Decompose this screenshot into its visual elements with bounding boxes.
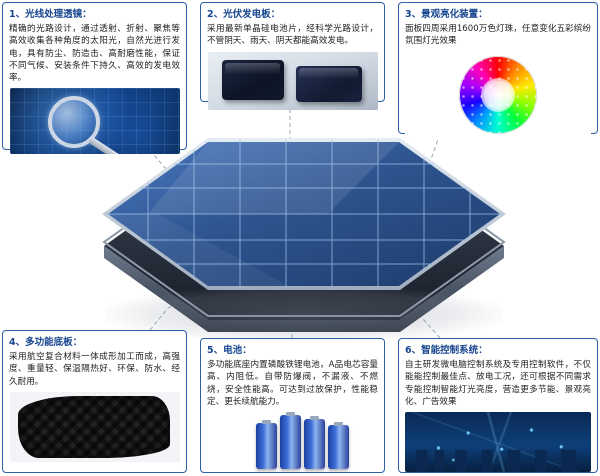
callout-3-body: 面板四周采用1600万色灯珠，任意变化五彩缤纷氛围灯光效果 [405,23,591,48]
callout-card-3[interactable]: 3、景观亮化装置： 面板四周采用1600万色灯珠，任意变化五彩缤纷氛围灯光效果 [398,2,598,134]
smart-city-image [405,412,591,472]
solar-cell-image [208,52,378,110]
diagram-canvas: 1、光线处理透镜： 精确的光路设计，通过透射、折射、聚焦等高效收集各种角度的太阳… [0,0,600,476]
carbon-fiber-weave [18,396,170,458]
callout-card-6[interactable]: 6、智能控制系统： 自主研发微电脑控制系统及专用控制软件，不仅能能控制最佳点、放… [398,338,598,473]
callout-5-body: 多功能底座内置磷酸铁锂电池，A品电芯容量高、内阻低。自带防爆阀，不漏液、不燃烧，… [207,359,378,408]
battery-cell-4 [328,425,349,469]
callout-1-body: 精确的光路设计，通过透射、折射、聚焦等高效收集各种角度的太阳光，自然光进行发电，… [9,23,180,84]
callout-2-body: 采用最新单晶硅电池片，经科学光路设计，不管阴天、雨天、阴天都能高效发电。 [207,23,378,48]
battery-cells-image [208,412,378,472]
carbon-fiber-image [10,392,180,462]
callout-1-title: 1、光线处理透镜： [9,8,180,21]
callout-3-title: 3、景观亮化装置： [405,8,591,21]
callout-card-1[interactable]: 1、光线处理透镜： 精确的光路设计，通过透射、折射、聚焦等高效收集各种角度的太阳… [2,2,187,150]
callout-6-title: 6、智能控制系统： [405,344,591,357]
battery-cell-1 [256,423,277,469]
magnifier-lens-image [10,88,180,154]
color-wheel-dots [459,56,537,134]
callout-2-title: 2、光伏发电板： [207,8,378,21]
solar-cell-a [222,60,284,100]
callout-4-body: 采用航空复合材料一体成形加工而成，高强度、重量轻、保温隔热好、环保、防水、经久耐… [9,351,180,388]
callout-6-body: 自主研发微电脑控制系统及专用控制软件，不仅能能控制最佳点、放电工况，还可根据不同… [405,359,591,408]
solar-cell-b [296,66,362,102]
battery-cell-2 [280,415,301,469]
color-wheel-image [405,52,591,138]
callout-5-title: 5、电池： [207,344,378,357]
callout-card-2[interactable]: 2、光伏发电板： 采用最新单晶硅电池片，经科学光路设计，不管阴天、雨天、阴天都能… [200,2,385,102]
battery-cell-3 [304,419,325,469]
callout-4-title: 4、多功能底板： [9,336,180,349]
color-wheel-graphic [459,56,537,134]
callout-card-5[interactable]: 5、电池： 多功能底座内置磷酸铁锂电池，A品电芯容量高、内阻低。自带防爆阀，不漏… [200,338,385,473]
callout-card-4[interactable]: 4、多功能底板： 采用航空复合材料一体成形加工而成，高强度、重量轻、保温隔热好、… [2,330,187,473]
solar-panel-illustration [88,128,520,338]
city-skyline [405,450,591,472]
tech-grid-overlay [10,88,180,154]
